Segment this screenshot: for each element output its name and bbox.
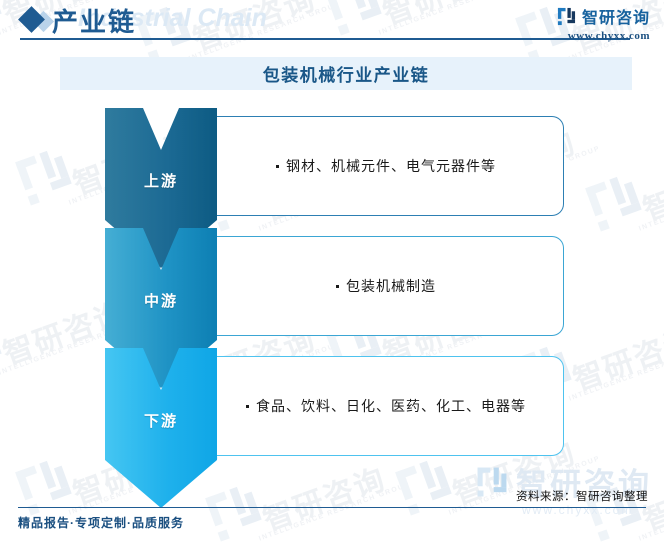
page-header: Industrial Chain 产业链 智研咨询 www.chyxx.com [0, 0, 664, 44]
page-title: 产业链 [52, 2, 136, 39]
watermark-logo-icon [580, 168, 649, 237]
tier-box-downstream[interactable]: 食品、饮料、日化、医药、化工、电器等 [209, 356, 564, 456]
tier-content-upstream-wrap: 钢材、机械元件、电气元器件等 [276, 156, 496, 176]
tier-content-upstream: 钢材、机械元件、电气元器件等 [286, 156, 496, 176]
brand-logo-block[interactable]: 智研咨询 www.chyxx.com [557, 4, 650, 42]
tier-box-midstream[interactable]: 包装机械制造 [209, 236, 564, 336]
zhiyan-logo-watermark-icon [580, 168, 649, 237]
zhiyan-logo-watermark-icon [390, 452, 459, 521]
zhiyan-logo-watermark-icon [0, 312, 9, 381]
zhiyan-logo-watermark-icon [10, 452, 79, 521]
brand-watermark-url: www.chyxx.com [522, 503, 633, 517]
bullet-icon [246, 405, 249, 408]
source-note: 资料来源：智研咨询整理 [516, 488, 648, 504]
tier-arrow-downstream [105, 348, 217, 508]
watermark-logo-icon [10, 452, 79, 521]
footer-tagline: 精品报告·专项定制·品质服务 [18, 514, 184, 531]
watermark-subtext: INTELLIGENCE RESEARCH GROUP [568, 341, 664, 403]
tier-content-downstream-wrap: 食品、饮料、日化、医药、化工、电器等 [246, 396, 526, 416]
watermark-text: 智研咨询 [566, 314, 664, 399]
zhiyan-logo-icon [557, 7, 576, 26]
tier-content-downstream: 食品、饮料、日化、医药、化工、电器等 [256, 396, 526, 416]
zhiyan-logo-watermark-icon [10, 142, 79, 211]
bullet-icon [336, 285, 339, 288]
watermark-logo-icon [0, 312, 9, 381]
watermark-subtext: INTELLIGENCE RESEARCH GROUP [638, 171, 664, 233]
chart-title-banner: 包装机械行业产业链 [60, 57, 632, 90]
zhiyan-logo-watermark-icon [475, 465, 509, 499]
brand-name: 智研咨询 [582, 4, 650, 28]
bullet-icon [276, 165, 279, 168]
brand-url: www.chyxx.com [557, 30, 650, 42]
watermark-text: 智研咨询 [636, 144, 664, 229]
watermark-subtext: INTELLIGENCE RESEARCH GROUP [258, 481, 411, 542]
tier-content-midstream-wrap: 包装机械制造 [336, 276, 436, 296]
watermark-logo-icon [10, 142, 79, 211]
tier-content-midstream: 包装机械制造 [346, 276, 436, 296]
watermark-logo-icon [390, 452, 459, 521]
watermark-text: 智研咨询 [256, 454, 391, 539]
chart-title: 包装机械行业产业链 [263, 61, 430, 86]
footer-divider [18, 507, 646, 508]
tier-box-upstream[interactable]: 钢材、机械元件、电气元器件等 [209, 116, 564, 216]
